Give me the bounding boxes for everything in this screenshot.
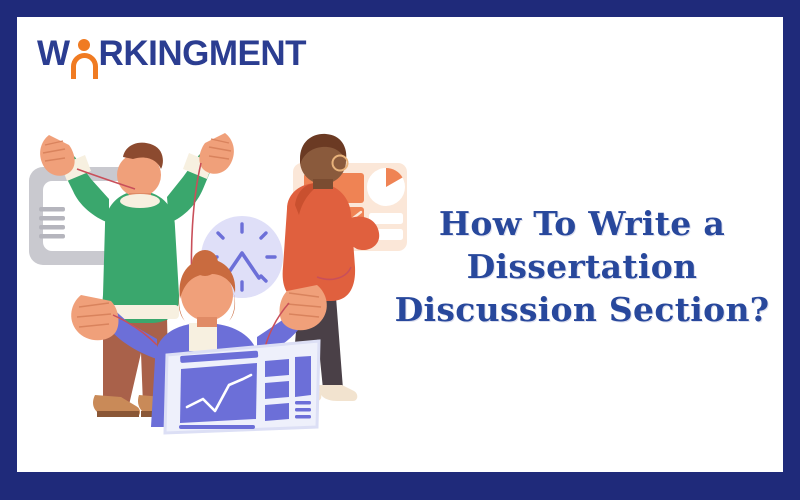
title-line-1: How To Write a [387, 202, 777, 245]
person-icon-body [71, 53, 98, 79]
logo-text-after: RKINGMENT [99, 36, 306, 71]
banner: W RKINGMENT [0, 0, 800, 500]
person-icon [70, 33, 99, 73]
logo[interactable]: W RKINGMENT [37, 27, 306, 79]
blue-dashboard-panel [165, 341, 319, 433]
person-icon-head [78, 39, 90, 51]
logo-text-before: W [37, 36, 70, 71]
title-line-2: Dissertation [387, 245, 777, 288]
page-title: How To Write a Dissertation Discussion S… [387, 202, 777, 331]
banner-inner-card: W RKINGMENT [17, 17, 783, 472]
title-line-3: Discussion Section? [387, 288, 777, 331]
team-celebrating-data-illustration [17, 127, 417, 447]
